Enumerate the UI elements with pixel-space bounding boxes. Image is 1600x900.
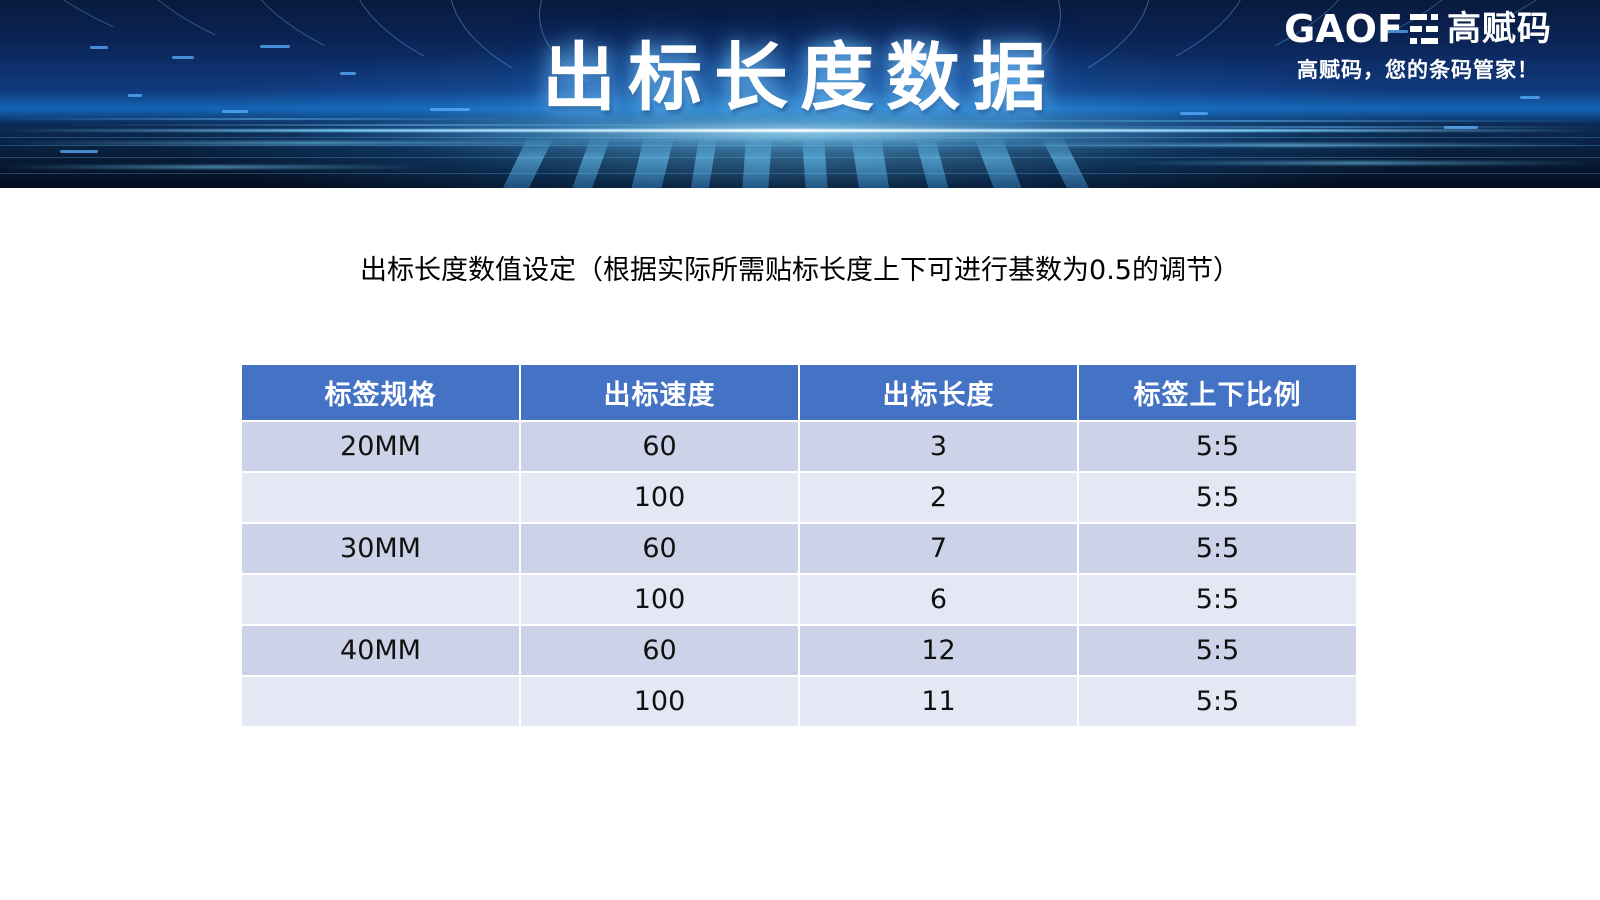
header-banner: 出标长度数据 GAOF 高赋码 高赋码，您的条码管家！ <box>0 0 1600 188</box>
cell-label-ratio: 5:5 <box>1078 676 1357 727</box>
table-header-row: 标签规格 出标速度 出标长度 标签上下比例 <box>241 364 1357 421</box>
table-row: 100 2 5:5 <box>241 472 1357 523</box>
column-header-label-spec: 标签规格 <box>241 364 520 421</box>
table-row: 30MM 60 7 5:5 <box>241 523 1357 574</box>
column-header-label-speed: 出标速度 <box>520 364 799 421</box>
cell-label-speed: 100 <box>520 676 799 727</box>
cell-label-ratio: 5:5 <box>1078 625 1357 676</box>
table-row: 20MM 60 3 5:5 <box>241 421 1357 472</box>
cell-label-spec: 40MM <box>241 625 520 676</box>
cell-label-length: 3 <box>799 421 1078 472</box>
cell-label-speed: 60 <box>520 421 799 472</box>
logo-chinese-text: 高赋码 <box>1447 12 1552 46</box>
cell-label-ratio: 5:5 <box>1078 472 1357 523</box>
cell-label-spec <box>241 472 520 523</box>
cell-label-speed: 100 <box>520 472 799 523</box>
cell-label-speed: 60 <box>520 625 799 676</box>
banner-perspective-floor <box>0 131 1600 188</box>
cell-label-length: 6 <box>799 574 1078 625</box>
cell-label-speed: 60 <box>520 523 799 574</box>
cell-label-ratio: 5:5 <box>1078 421 1357 472</box>
cell-label-spec <box>241 676 520 727</box>
table-header: 标签规格 出标速度 出标长度 标签上下比例 <box>241 364 1357 421</box>
logo-tagline: 高赋码，您的条码管家！ <box>1248 54 1588 84</box>
logo-latin-text: GAOF <box>1284 10 1403 48</box>
table-row: 100 11 5:5 <box>241 676 1357 727</box>
brand-logo: GAOF 高赋码 高赋码，您的条码管家！ <box>1248 8 1588 84</box>
three-bars-icon <box>1410 14 1438 44</box>
cell-label-length: 7 <box>799 523 1078 574</box>
column-header-label-length: 出标长度 <box>799 364 1078 421</box>
label-length-table: 标签规格 出标速度 出标长度 标签上下比例 20MM 60 3 5:5 100 … <box>240 363 1358 728</box>
cell-label-spec: 20MM <box>241 421 520 472</box>
cell-label-spec <box>241 574 520 625</box>
cell-label-length: 11 <box>799 676 1078 727</box>
table-row: 100 6 5:5 <box>241 574 1357 625</box>
subtitle-text: 出标长度数值设定（根据实际所需贴标长度上下可进行基数为0.5的调节） <box>0 248 1600 287</box>
cell-label-length: 2 <box>799 472 1078 523</box>
cell-label-speed: 100 <box>520 574 799 625</box>
cell-label-length: 12 <box>799 625 1078 676</box>
table-row: 40MM 60 12 5:5 <box>241 625 1357 676</box>
table-body: 20MM 60 3 5:5 100 2 5:5 30MM 60 7 5:5 10… <box>241 421 1357 727</box>
cell-label-ratio: 5:5 <box>1078 523 1357 574</box>
cell-label-spec: 30MM <box>241 523 520 574</box>
column-header-label-ratio: 标签上下比例 <box>1078 364 1357 421</box>
cell-label-ratio: 5:5 <box>1078 574 1357 625</box>
